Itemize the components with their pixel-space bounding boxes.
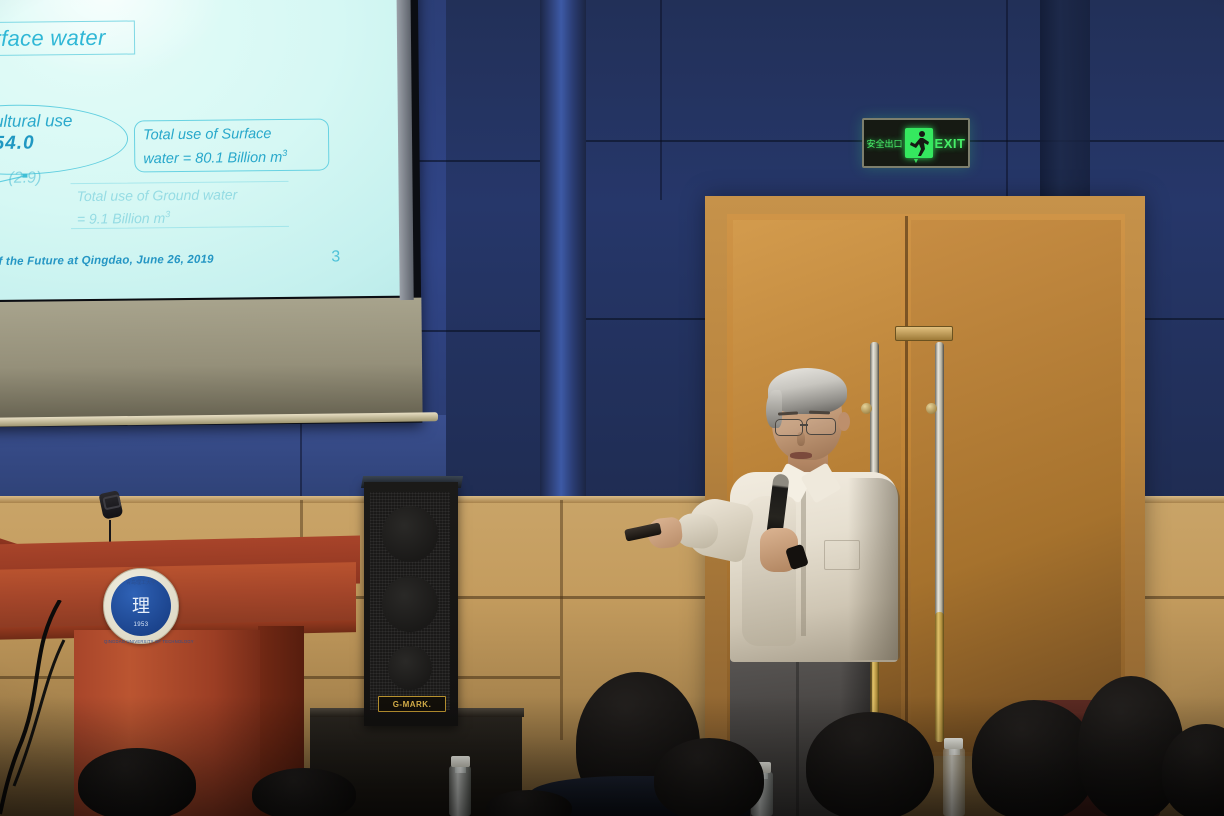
speaker-driver	[382, 576, 438, 632]
door-center-seam	[905, 216, 908, 756]
speaker-brand-text: G-MARK.	[393, 700, 432, 709]
projected-slide: Surface water Agricultural use 54.0 (2.9…	[0, 0, 408, 300]
slide-footer-text: Cities of the Future at Qingdao, June 26…	[0, 254, 214, 269]
slide-paren-value: (2.9)	[8, 169, 41, 187]
shirt-pocket	[824, 540, 860, 570]
audience-head-3	[78, 748, 196, 816]
exit-sign-chinese-label: 安全出口	[867, 137, 903, 150]
surface-box-line1: Total use of Surface	[143, 126, 272, 143]
slide-title-text: Surface water	[0, 25, 106, 52]
audience-head-4	[252, 768, 356, 816]
door-latch-plate	[895, 326, 953, 341]
slide-ellipse-label: Agricultural use	[0, 111, 114, 133]
surface-box-sup: 3	[282, 148, 287, 158]
wall-column	[540, 0, 586, 500]
slide-ground-water-box: Total use of Ground water = 9.1 Billion …	[71, 181, 289, 229]
bottle-cap	[451, 756, 470, 767]
speaker-driver	[382, 506, 438, 562]
ground-box-sup: 3	[165, 209, 170, 219]
wall-seam	[660, 0, 662, 200]
speaker-brand-label: G-MARK.	[378, 696, 446, 712]
bottle-cap	[944, 738, 963, 749]
ground-box-line2: = 9.1 Billion m	[77, 210, 165, 227]
emblem-chinese-text: 青岛理工大学	[111, 579, 171, 586]
slide-title-box: Surface water	[0, 20, 135, 56]
presentation-photo-scene: 安全出口 EXIT ▼ Surface water Agricultural u…	[0, 0, 1224, 816]
slide-surface-water-box: Total use of Surface water = 80.1 Billio…	[134, 118, 330, 172]
eyeglasses-bridge	[800, 424, 808, 426]
door-handle-right-lower[interactable]	[935, 612, 944, 742]
projection-screen-blank-area	[0, 298, 423, 423]
door-handle-mount	[861, 403, 872, 414]
wainscot-groove	[560, 500, 563, 740]
water-bottle	[449, 766, 471, 816]
presenter-nose	[797, 432, 805, 446]
trouser-pleat	[796, 640, 799, 816]
speaker-driver	[388, 646, 432, 690]
presenter-mouth	[790, 452, 812, 459]
eyeglasses-lens-right	[806, 418, 836, 435]
audience-head-5	[806, 712, 934, 816]
presenter-ear	[838, 412, 850, 431]
slide-ellipse-value: 54.0	[0, 132, 114, 156]
water-bottle	[943, 748, 965, 816]
slide-page-number: 3	[331, 248, 340, 266]
door-handle-mount	[926, 403, 937, 414]
ground-box-line1: Total use of Ground water	[77, 186, 238, 204]
surface-box-line2: water = 80.1 Billion m	[143, 150, 282, 167]
running-person-icon	[905, 128, 933, 158]
exit-arrow-icon: ▼	[913, 158, 920, 165]
audience-head-2	[654, 738, 764, 816]
emergency-exit-sign: 安全出口 EXIT ▼	[862, 118, 970, 168]
exit-sign-english-label: EXIT	[935, 136, 966, 151]
running-person-glyph	[905, 128, 933, 158]
